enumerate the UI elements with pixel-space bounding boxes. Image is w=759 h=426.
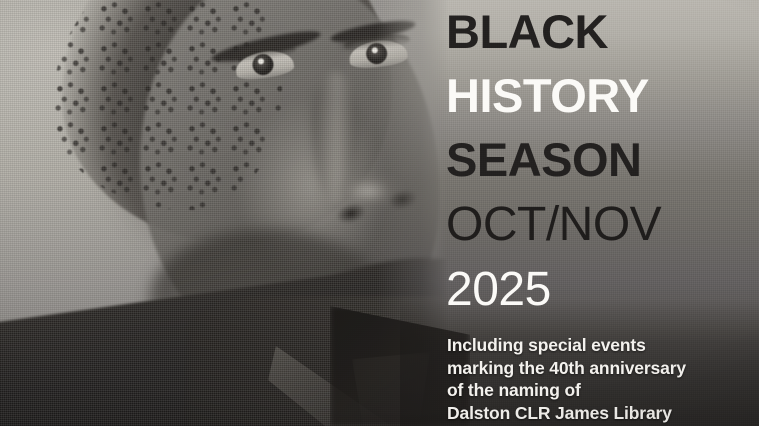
headline-block: BLACK HISTORY SEASON OCT/NOV 2025: [446, 0, 759, 322]
blurb-line: marking the 40th anniversary: [447, 357, 759, 380]
blurb-block: Including special events marking the 40t…: [447, 334, 759, 424]
blurb-line: of the naming of: [447, 379, 759, 402]
headline-line-black: BLACK: [446, 0, 759, 64]
headline-line-season: SEASON: [446, 128, 759, 192]
portrait-hair-texture: [52, 0, 282, 210]
blurb-line: Including special events: [447, 334, 759, 357]
headline-line-history: HISTORY: [446, 64, 759, 128]
dates-line-months: OCT/NOV: [446, 192, 759, 257]
dates-line-year: 2025: [446, 257, 759, 322]
blurb-line: Dalston CLR James Library: [447, 402, 759, 425]
poster: BLACK HISTORY SEASON OCT/NOV 2025 Includ…: [0, 0, 759, 426]
